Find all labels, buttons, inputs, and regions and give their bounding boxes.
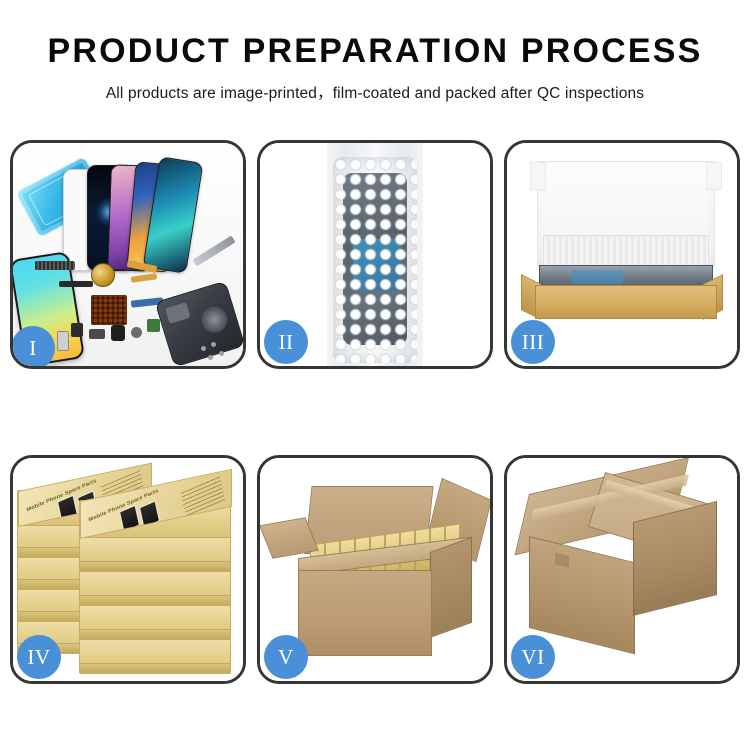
speaker-coil-icon (91, 263, 115, 287)
step-numeral: II (279, 330, 294, 355)
product-preparation-infographic: PRODUCT PREPARATION PROCESS All products… (0, 0, 750, 750)
header: PRODUCT PREPARATION PROCESS All products… (0, 0, 750, 103)
bubble-highlight-overlay (333, 157, 417, 363)
carton-side-panel (430, 537, 472, 638)
step-panel-5: V (257, 455, 493, 684)
carton-front-panel (298, 570, 432, 656)
copper-grid-component (91, 295, 127, 325)
step-number-badge-5: V (264, 635, 308, 679)
retail-box-front-3 (79, 568, 231, 606)
step-panel-6: VI (504, 455, 740, 684)
flex-cable-c (59, 281, 93, 287)
box-spec-lines-front (181, 476, 226, 517)
small-component-1 (71, 323, 83, 337)
small-component-5 (57, 331, 69, 351)
step-numeral: III (522, 330, 544, 355)
screws-group (199, 342, 233, 362)
page-title: PRODUCT PREPARATION PROCESS (0, 34, 750, 68)
connector-strip (35, 261, 75, 270)
step-panel-3: III (504, 140, 740, 369)
small-component-6 (147, 319, 160, 332)
step-number-badge-4: IV (17, 635, 61, 679)
step-panel-1: I (10, 140, 246, 369)
retail-box-front-4 (79, 602, 231, 640)
inner-box-front (535, 285, 717, 319)
step-number-badge-1: I (11, 326, 55, 369)
step-panel-2: II (257, 140, 493, 369)
step-numeral: V (278, 645, 294, 670)
small-component-2 (89, 329, 105, 339)
small-component-4 (131, 327, 142, 338)
process-steps-grid: I II (10, 140, 740, 684)
step-panel-4: Mobile Phone Spare Parts Mobile Phone Sp… (10, 455, 246, 684)
step-number-badge-6: VI (511, 635, 555, 679)
retail-box-front-5 (79, 636, 231, 674)
retail-box-front-1: Mobile Phone Spare Parts (79, 500, 231, 538)
page-subtitle: All products are image-printed，film-coat… (0, 81, 750, 103)
step-number-badge-2: II (264, 320, 308, 364)
box-phone-thumb-d (139, 500, 160, 528)
step-numeral: IV (27, 645, 50, 670)
foam-padding (543, 235, 709, 269)
small-component-3 (111, 325, 125, 341)
step-number-badge-3: III (511, 320, 555, 364)
step-numeral: VI (521, 645, 544, 670)
retail-box-front-2 (79, 534, 231, 572)
phone-lineup (75, 151, 215, 271)
step-numeral: I (29, 336, 37, 361)
